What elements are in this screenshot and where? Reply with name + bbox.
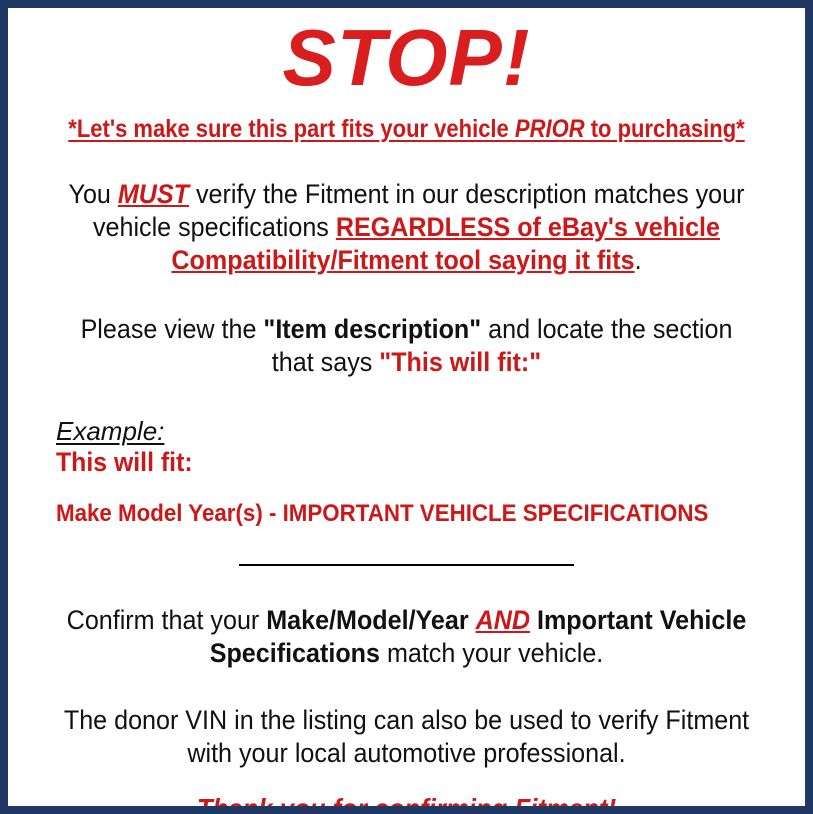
divider-wrapper: [18, 528, 795, 574]
confirm-space-1: [469, 605, 476, 635]
tagline: *Let's make sure this part fits your veh…: [65, 100, 749, 144]
example-fit-heading: This will fit:: [56, 445, 736, 478]
paragraph-confirm: Confirm that your Make/Model/Year AND Im…: [45, 574, 768, 670]
example-label-row: Example:: [56, 417, 795, 446]
emphasis-make-model-year: Make/Model/Year: [266, 605, 468, 635]
notice-content: STOP! *Let's make sure this part fits yo…: [8, 8, 805, 806]
desc-seg-1: Please view the: [81, 314, 264, 344]
confirm-space-2: [530, 605, 537, 635]
emphasis-and: AND: [476, 605, 530, 635]
tagline-text-before: *Let's make sure this part fits your veh…: [68, 115, 515, 143]
example-block: Example: This will fit: Make Model Year(…: [18, 379, 795, 528]
example-spec-line: Make Model Year(s) - IMPORTANT VEHICLE S…: [56, 478, 743, 528]
must-seg-3: .: [635, 245, 642, 275]
paragraph-donor-vin: The donor VIN in the listing can also be…: [45, 670, 768, 770]
emphasis-must: MUST: [118, 179, 189, 209]
closing-thank-you: Thank you for confirming Fitment!: [49, 770, 764, 814]
emphasis-this-will-fit: "This will fit:": [379, 347, 541, 377]
emphasis-item-description: "Item description": [263, 314, 481, 344]
example-label: Example:: [56, 417, 164, 446]
confirm-seg-2: match your vehicle.: [380, 638, 603, 668]
paragraph-item-description: Please view the "Item description" and l…: [45, 277, 768, 379]
tagline-text-after: to purchasing*: [585, 115, 745, 143]
must-seg-1: You: [69, 179, 118, 209]
section-divider: [239, 564, 574, 566]
paragraph-must-verify: You MUST verify the Fitment in our descr…: [45, 144, 768, 277]
fitment-notice-card: STOP! *Let's make sure this part fits yo…: [0, 0, 813, 814]
tagline-emphasis-prior: PRIOR: [515, 115, 585, 143]
confirm-seg-1: Confirm that your: [67, 605, 267, 635]
stop-headline: STOP!: [18, 8, 795, 100]
